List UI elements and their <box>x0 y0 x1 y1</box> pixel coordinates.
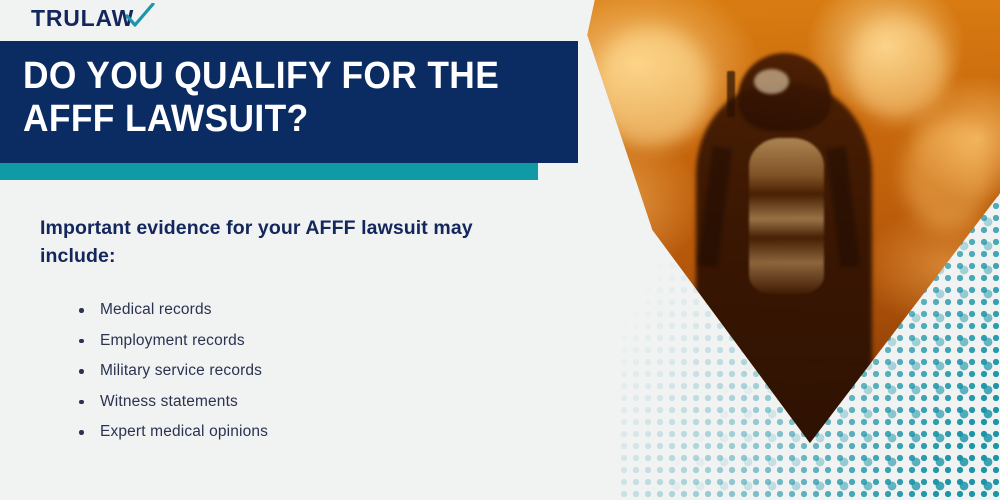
afff-lawsuit-banner: TRULAW Do You Qualify for the AFFF Lawsu… <box>0 0 1000 500</box>
evidence-list: Medical records Employment records Milit… <box>79 301 268 442</box>
list-item: Employment records <box>79 332 268 351</box>
list-item: Expert medical opinions <box>79 423 268 442</box>
headline-panel: Do You Qualify for the AFFF Lawsuit? <box>0 41 578 163</box>
list-item: Military service records <box>79 362 268 381</box>
checkmark-icon <box>125 3 155 29</box>
firefighter-body <box>696 83 872 460</box>
firefighter-helmet <box>738 53 830 131</box>
page-title: Do You Qualify for the AFFF Lawsuit? <box>23 55 525 141</box>
subheading: Important evidence for your AFFF lawsuit… <box>40 214 530 271</box>
firefighter-in-flames-photo <box>560 0 1000 460</box>
firefighter-antenna <box>727 71 735 117</box>
list-item: Medical records <box>79 301 268 320</box>
flame-glow-icon <box>903 120 991 230</box>
flame-glow-icon <box>850 18 947 119</box>
logo-wordmark: TRULAW <box>31 7 134 30</box>
halftone-dot-field-coarse <box>620 190 1000 500</box>
list-item: Witness statements <box>79 393 268 412</box>
firefighter-strap-right <box>826 146 860 267</box>
teal-accent-bar <box>0 163 538 180</box>
flame-glow-icon <box>595 28 709 148</box>
firefighter-strap-left <box>698 146 732 267</box>
firefighter-air-tank <box>749 138 824 294</box>
trulaw-logo[interactable]: TRULAW <box>31 7 155 30</box>
firefighter-visor <box>754 69 789 94</box>
halftone-dot-field <box>620 190 1000 500</box>
